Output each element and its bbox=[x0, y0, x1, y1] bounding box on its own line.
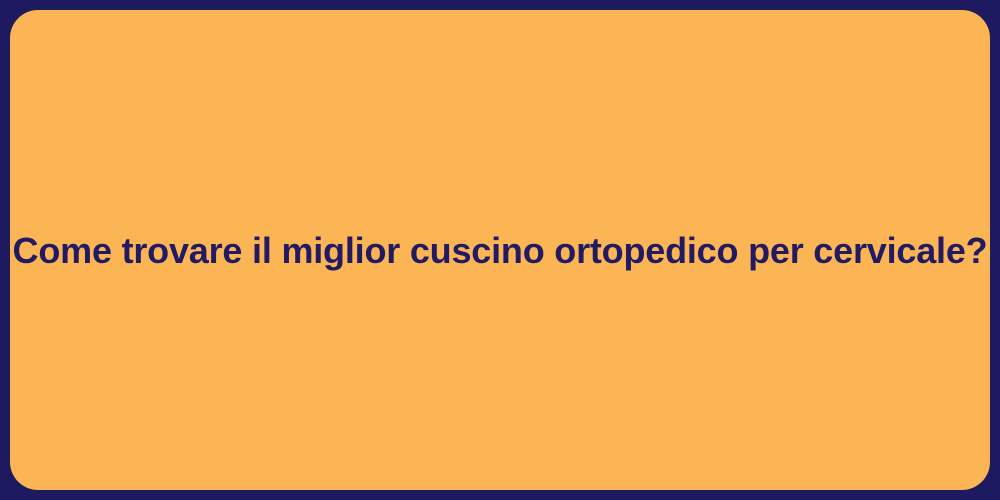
banner-frame: Come trovare il miglior cuscino ortopedi… bbox=[0, 0, 1000, 500]
banner-card: Come trovare il miglior cuscino ortopedi… bbox=[10, 10, 990, 490]
headline-text: Come trovare il miglior cuscino ortopedi… bbox=[13, 228, 988, 273]
